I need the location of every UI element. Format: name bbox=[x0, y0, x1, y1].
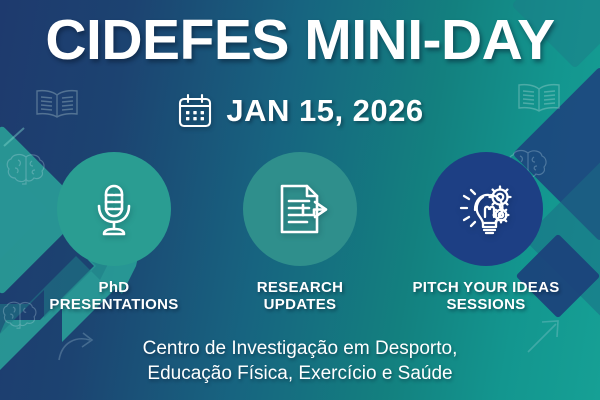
icon-bubble-research bbox=[243, 152, 357, 266]
label-line-1: PhD bbox=[99, 279, 130, 296]
feature-card-label-research: RESEARCH UPDATES bbox=[257, 280, 344, 314]
organization-subtitle: Centro de Investigação em Desporto, Educ… bbox=[0, 336, 600, 386]
label-line-2: PRESENTATIONS bbox=[49, 297, 178, 314]
label-line-1: RESEARCH bbox=[257, 279, 344, 296]
feature-card-label-phd: PhD PRESENTATIONS bbox=[49, 280, 178, 314]
poster-canvas: CIDEFES MINI-DAY JAN 15 bbox=[0, 0, 600, 400]
event-date-row: JAN 15, 2026 bbox=[0, 92, 600, 130]
icon-bubble-pitch bbox=[429, 152, 543, 266]
feature-cards: PhD PRESENTATIONS bbox=[0, 152, 600, 314]
event-date-text: JAN 15, 2026 bbox=[226, 93, 423, 129]
feature-card-phd-presentations: PhD PRESENTATIONS bbox=[30, 152, 198, 314]
feature-card-label-pitch: PITCH YOUR IDEAS SESSIONS bbox=[412, 280, 559, 314]
feature-card-pitch-ideas: PITCH YOUR IDEAS SESSIONS bbox=[402, 152, 570, 314]
page-title: CIDEFES MINI-DAY bbox=[0, 12, 600, 69]
label-line-1: PITCH YOUR IDEAS bbox=[412, 279, 559, 296]
document-arrow-icon bbox=[269, 178, 331, 240]
subtitle-line-2: Educação Física, Exercício e Saúde bbox=[0, 361, 600, 386]
calendar-icon bbox=[176, 92, 214, 130]
microphone-icon bbox=[83, 178, 145, 240]
label-line-2: SESSIONS bbox=[412, 297, 559, 314]
feature-card-research-updates: RESEARCH UPDATES bbox=[216, 152, 384, 314]
subtitle-line-1: Centro de Investigação em Desporto, bbox=[143, 338, 458, 359]
icon-bubble-phd bbox=[57, 152, 171, 266]
lightbulb-gears-icon bbox=[455, 178, 517, 240]
label-line-2: UPDATES bbox=[257, 297, 344, 314]
